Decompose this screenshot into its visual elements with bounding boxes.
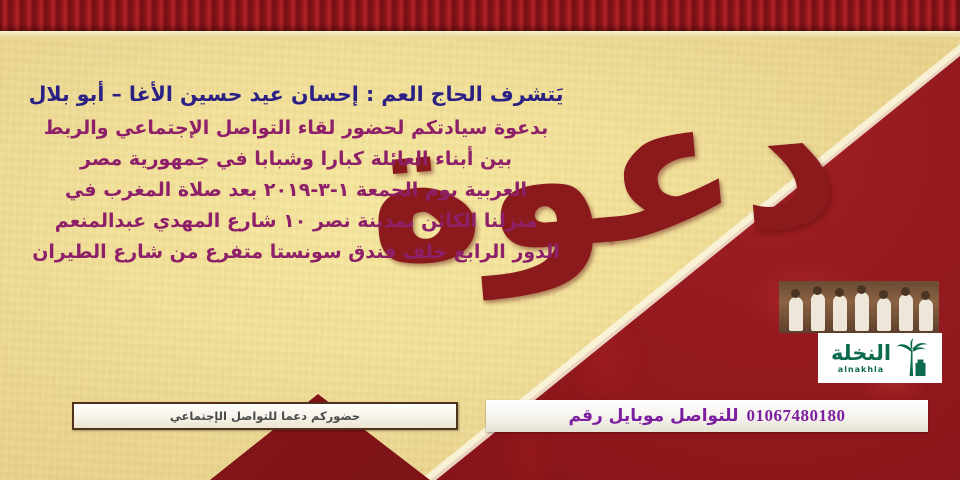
contact-label: للتواصل موبايل رقم [569,406,739,426]
invitation-line-4: منزلنا الكائن بمدينة نصر ١٠ شارع المهدي … [8,210,584,232]
logo-name: النخلة [831,341,891,365]
invitation-text-block: يَتشرف الحاج العم : إحسان عيد حسين الأغا… [8,82,584,272]
palm-tree-icon [895,338,929,378]
group-photo-strip [779,281,939,333]
invitation-line-5: الدور الرابع خلف فندق سونستا متفرع من شا… [8,241,584,263]
contact-bar: للتواصل موبايل رقم 01067480180 [486,400,928,432]
host-line: يَتشرف الحاج العم : إحسان عيد حسين الأغا… [8,82,584,106]
invitation-line-2: بين أبناء العائلة كبارا وشبابا في جمهوري… [8,148,584,170]
invitation-line-3: العربية يوم الجمعة ١-٣-٢٠١٩ بعد صلاة الم… [8,179,584,201]
contact-phone-number[interactable]: 01067480180 [746,406,845,426]
footer-note-bar: حضوركم دعما للتواصل الإجتماعي [72,402,458,430]
footer-note-text: حضوركم دعما للتواصل الإجتماعي [170,409,360,423]
invitation-line-1: بدعوة سيادتكم لحضور لقاء التواصل الإجتما… [8,117,584,139]
calligraphy-ornament: دعوة [538,30,849,304]
top-curtain-band [0,0,960,31]
logo-latin: alnakhla [831,366,891,374]
invitation-card: دعوة يَتشرف الحاج العم : إحسان عيد حسين … [0,0,960,480]
sponsor-logo: النخلة alnakhla [818,333,942,383]
logo-text-wrap: النخلة alnakhla [831,343,891,374]
